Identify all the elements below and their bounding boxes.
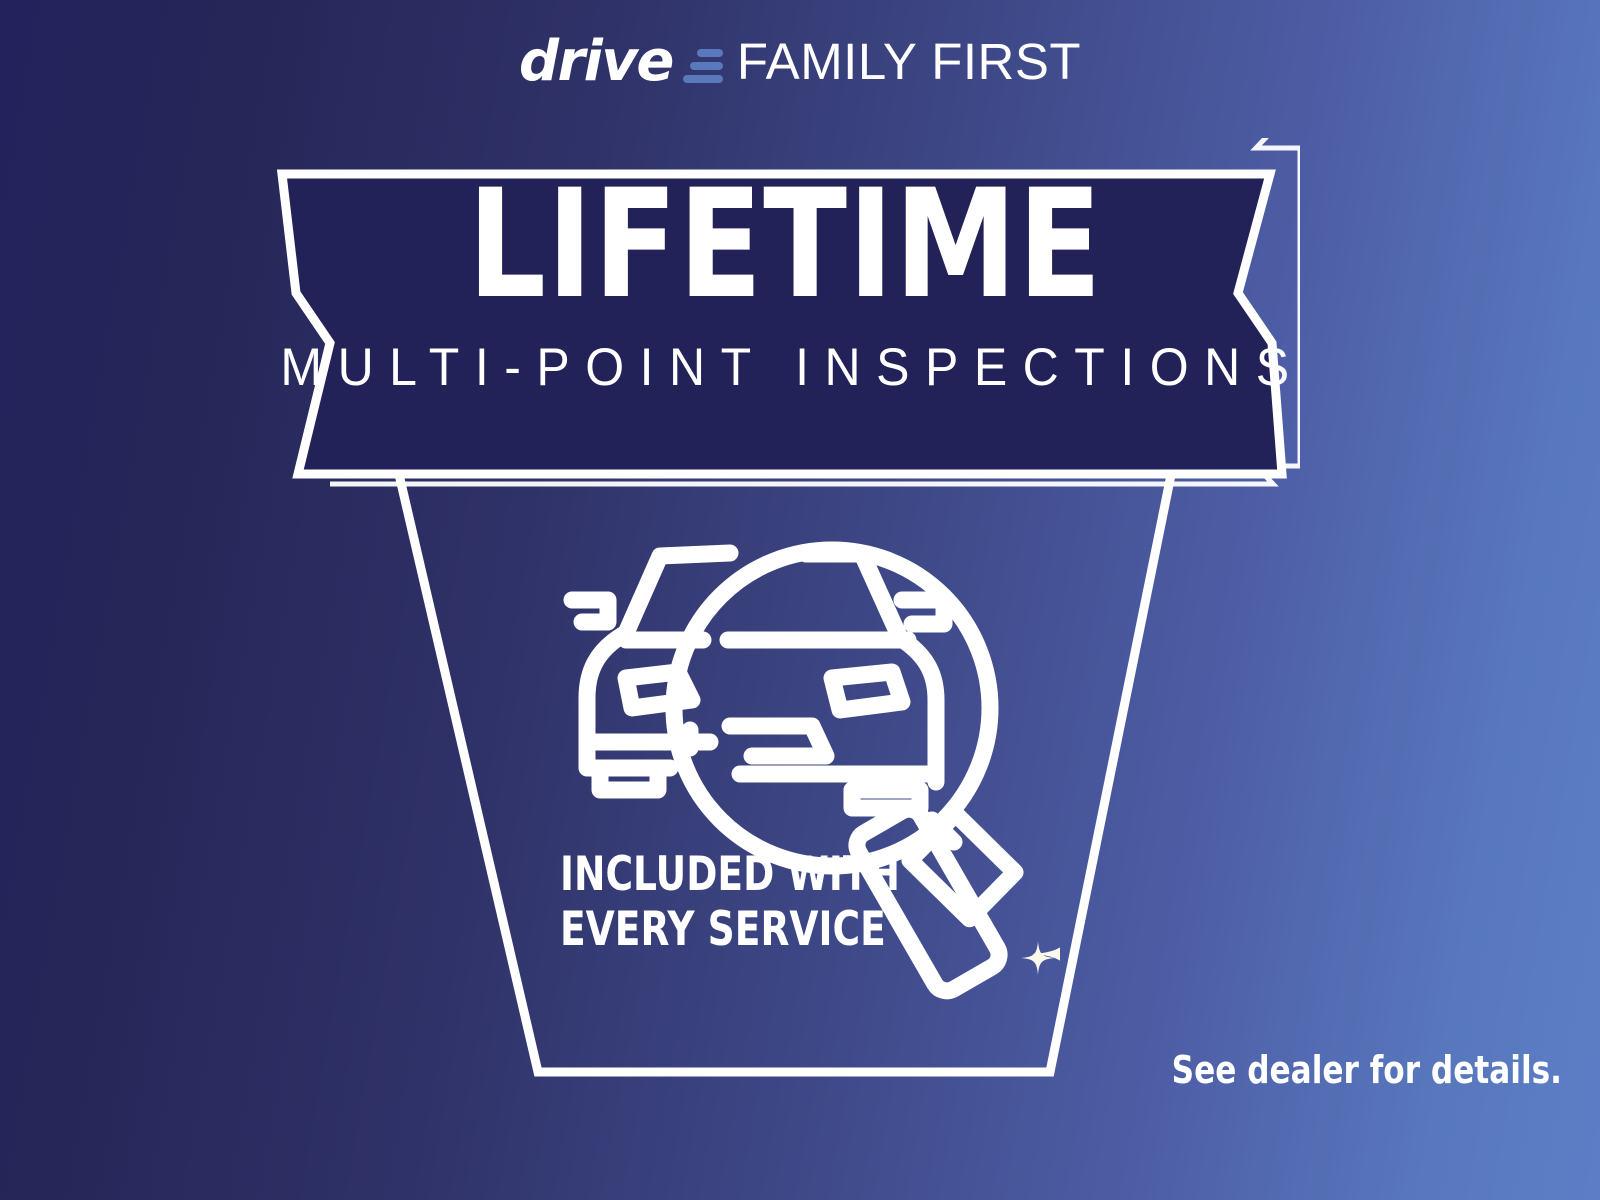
car-front-icon-back: [572, 553, 730, 790]
ribbon-banner: LIFETIME MULTI-POINT INSPECTIONS: [270, 138, 1300, 498]
included-line-1: INCLUDED WITH: [560, 848, 896, 903]
car-front-icon-main: [728, 554, 944, 808]
brand-wordmark: drive: [519, 34, 673, 90]
three-bars-icon: [683, 49, 723, 83]
included-text-block: INCLUDED WITH EVERY SERVICE: [560, 848, 896, 957]
brand-lockup: drive FAMILY FIRST: [0, 28, 1600, 98]
included-line-2: EVERY SERVICE: [560, 903, 896, 958]
brand-tagline: FAMILY FIRST: [737, 36, 1081, 87]
bar-top: [697, 49, 723, 57]
promo-graphic: drive FAMILY FIRST LIFETIME MULTI-POINT …: [0, 0, 1600, 1200]
banner-headline: LIFETIME: [468, 176, 1103, 314]
bar-bottom: [683, 75, 723, 83]
sparkle-icon: [1021, 888, 1060, 998]
banner-subhead: MULTI-POINT INSPECTIONS: [265, 336, 1304, 397]
disclaimer-text: See dealer for details.: [1172, 1048, 1562, 1092]
bar-middle: [690, 62, 723, 70]
banner-text-block: LIFETIME MULTI-POINT INSPECTIONS: [270, 138, 1300, 498]
